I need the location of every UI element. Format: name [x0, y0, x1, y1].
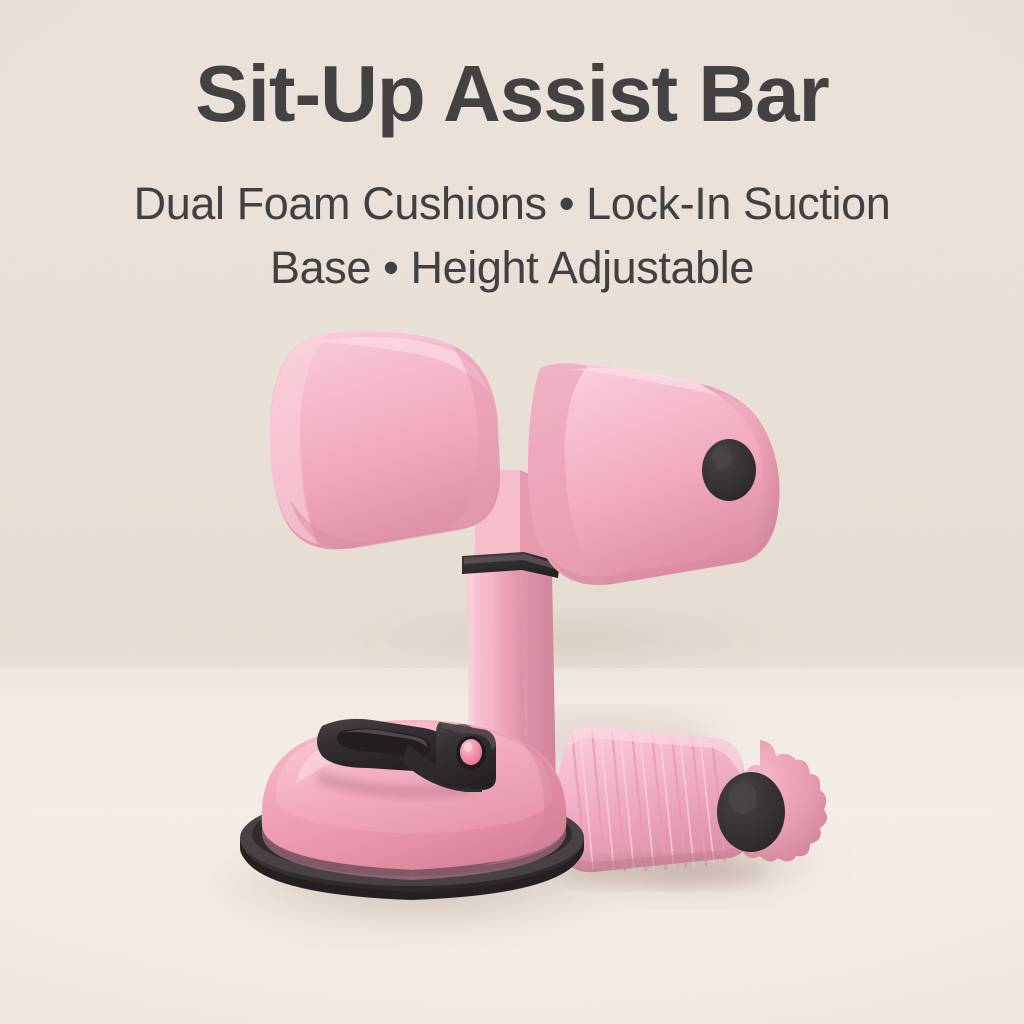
product-illustration [0, 0, 1024, 1024]
cushion-end-cap [702, 439, 756, 501]
cushion-right [528, 363, 780, 585]
lock-lever [317, 719, 496, 798]
product-hero-image: Sit-Up Assist Bar Dual Foam Cushions • L… [0, 0, 1024, 1024]
release-button[interactable] [456, 736, 486, 770]
cushion-left [270, 332, 500, 550]
